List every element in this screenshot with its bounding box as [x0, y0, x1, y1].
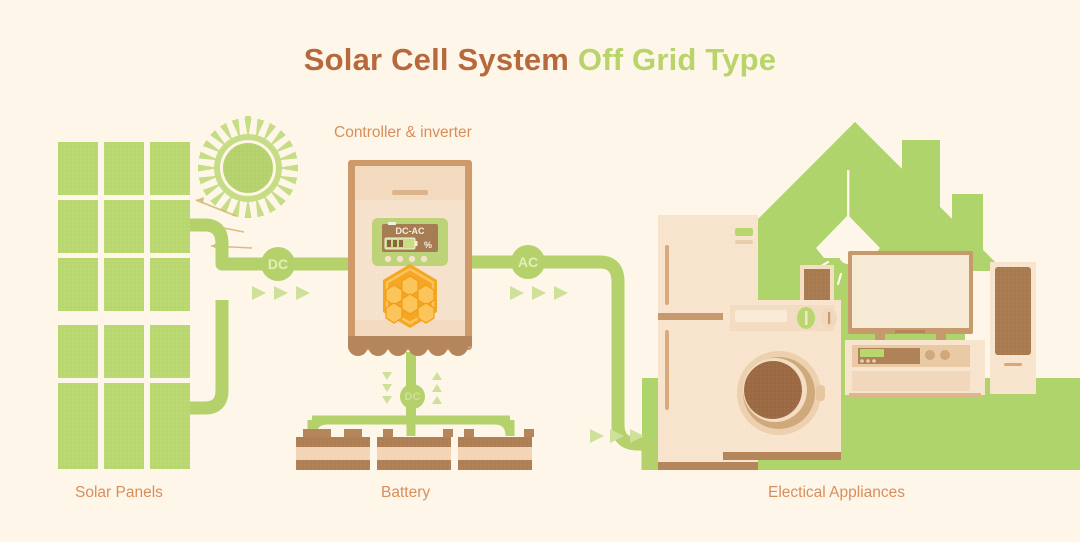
label-battery: Battery: [381, 484, 430, 502]
battery-flow-arrows-down: [382, 372, 392, 404]
solar-array-bottom: [58, 325, 190, 469]
appliance-media-cabinet: [845, 340, 985, 398]
badge-dc-from-panels: DC: [261, 247, 295, 281]
title-part-2: Off Grid Type: [578, 42, 776, 77]
label-electrical-appliances: Electical Appliances: [768, 484, 905, 502]
battery-unit: [296, 429, 370, 470]
dc-flow-arrows: [252, 286, 310, 300]
page-title: Solar Cell System Off Grid Type: [0, 42, 1080, 78]
solar-panel-array: [58, 142, 190, 469]
svg-text:DC-AC: DC-AC: [396, 226, 425, 236]
house-chimney: [902, 140, 940, 210]
ac-flow-arrows-top: [510, 286, 568, 300]
appliance-air-purifier: [990, 262, 1036, 394]
infographic-canvas: DC-AC %: [0, 0, 1080, 542]
battery-flow-arrows-up: [432, 372, 442, 404]
solar-array-top: [58, 142, 190, 311]
label-solar-panels: Solar Panels: [75, 484, 163, 502]
appliance-television: [848, 251, 973, 340]
appliance-washing-machine: [723, 300, 841, 460]
controller-inverter: DC-AC %: [348, 160, 472, 356]
badge-ac-to-house: AC: [511, 245, 545, 279]
sun-icon: [198, 116, 298, 218]
badge-dc-to-battery: DC: [400, 384, 425, 409]
title-part-1: Solar Cell System: [304, 42, 569, 77]
battery-unit: [458, 429, 534, 470]
label-controller-inverter: Controller & inverter: [334, 124, 472, 142]
svg-text:%: %: [424, 240, 432, 250]
